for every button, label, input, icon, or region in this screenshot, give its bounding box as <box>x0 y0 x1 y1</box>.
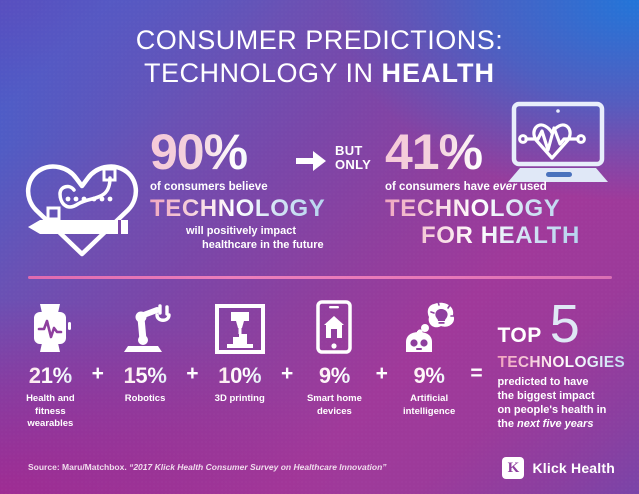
stat-right-subline-after: used <box>517 181 547 193</box>
top5-desc-line-4-prefix: the <box>497 418 517 430</box>
top5-desc-line-4-emphasis: next five years <box>517 418 593 430</box>
top5-number: 5 <box>550 302 580 346</box>
heart-pen-icon <box>18 158 146 265</box>
top5-summary-block: TOP 5 TECHNOLOGIES predicted to have the… <box>497 296 625 431</box>
source-citation: Source: Maru/Matchbox. “2017 Klick Healt… <box>28 462 387 472</box>
stat-right-subline-emphasis: ever <box>493 181 517 193</box>
tech-item-robotics: 15% Robotics <box>109 296 182 406</box>
plus-symbol-1: + <box>87 296 109 386</box>
tech-percent-3d-printing: 10% <box>203 363 276 389</box>
top5-desc-line-4: the next five years <box>497 417 625 431</box>
tech-label-artificial-intelligence: Artificial intelligence <box>393 393 466 418</box>
stat-left-keyword: TECHNOLOGY <box>150 195 325 222</box>
tech-percent-artificial-intelligence: 9% <box>393 363 466 389</box>
title-block: CONSUMER PREDICTIONS: TECHNOLOGY IN HEAL… <box>0 24 639 90</box>
plus-symbol-2: + <box>181 296 203 386</box>
section-divider <box>28 276 612 279</box>
footer: Source: Maru/Matchbox. “2017 Klick Healt… <box>0 448 639 494</box>
infographic-canvas: CONSUMER PREDICTIONS: TECHNOLOGY IN HEAL… <box>0 0 639 494</box>
stat-right-keyword-line-1: TECHNOLOGY <box>385 195 580 222</box>
top5-headline: TOP 5 <box>497 302 625 348</box>
stat-right-block: 41% of consumers have ever used TECHNOLO… <box>385 126 580 249</box>
top5-description: predicted to have the biggest impact on … <box>497 375 625 431</box>
top5-word: TOP <box>497 324 541 348</box>
klick-logo-text: Klick Health <box>532 460 615 476</box>
but-only-line-2: ONLY <box>335 158 371 172</box>
tech-item-smart-home: 9% Smart home devices <box>298 296 371 418</box>
stat-right-keyword-line-2: FOR HEALTH <box>385 222 580 249</box>
page-title-line-2: TECHNOLOGY IN HEALTH <box>0 57 639 90</box>
klick-health-logo: K Klick Health <box>502 457 615 479</box>
tech-percent-smart-home: 9% <box>298 363 371 389</box>
tech-percent-robotics: 15% <box>109 363 182 389</box>
tech-label-robotics: Robotics <box>109 393 182 406</box>
stat-left-tail-line-1: will positively impact <box>186 224 324 238</box>
stat-row: 90% of consumers believe TECHNOLOGY will… <box>0 96 639 271</box>
tech-item-wearables: 21% Health and fitness wearables <box>14 296 87 431</box>
tech-item-3d-printing: 10% 3D printing <box>203 296 276 406</box>
plus-symbol-3: + <box>276 296 298 386</box>
but-only-line-1: BUT <box>335 144 371 158</box>
page-title-line-2-bold: HEALTH <box>382 58 496 88</box>
robot-arm-icon <box>109 296 182 354</box>
stat-left-subline: of consumers believe <box>150 180 325 195</box>
page-title-line-2-prefix: TECHNOLOGY IN <box>144 58 382 88</box>
source-prefix: Source: Maru/Matchbox. <box>28 462 129 472</box>
stat-left-tail-line-2: healthcare in the future <box>186 238 324 252</box>
technology-breakdown-row: 21% Health and fitness wearables + 15% R… <box>14 296 625 436</box>
top5-desc-line-3: on people's health in <box>497 403 625 417</box>
stat-left-tail: will positively impact healthcare in the… <box>186 224 324 252</box>
tech-label-smart-home: Smart home devices <box>298 393 371 418</box>
stat-right-subline: of consumers have ever used <box>385 180 580 195</box>
tech-label-3d-printing: 3D printing <box>203 393 276 406</box>
top5-technologies-word: TECHNOLOGIES <box>497 354 625 372</box>
top5-desc-line-2: the biggest impact <box>497 389 625 403</box>
plus-symbol-4: + <box>371 296 393 386</box>
tech-percent-wearables: 21% <box>14 363 87 389</box>
tech-item-artificial-intelligence: 9% Artificial intelligence <box>393 296 466 418</box>
3d-printer-icon <box>203 296 276 354</box>
but-only-label: BUT ONLY <box>335 144 371 172</box>
top5-desc-line-1: predicted to have <box>497 375 625 389</box>
klick-logo-mark-icon: K <box>502 457 524 479</box>
tech-label-wearables: Health and fitness wearables <box>14 393 87 431</box>
source-title: “2017 Klick Health Consumer Survey on He… <box>129 462 386 472</box>
page-title-line-1: CONSUMER PREDICTIONS: <box>0 24 639 57</box>
klick-logo-letter: K <box>508 461 520 476</box>
ai-robot-icon <box>393 296 466 354</box>
arrow-right-icon <box>296 150 326 177</box>
stat-right-subline-before: of consumers have <box>385 181 493 193</box>
stat-right-percent: 41% <box>385 126 580 178</box>
smartphone-home-icon <box>298 296 371 354</box>
equals-symbol: = <box>465 296 487 386</box>
smartwatch-icon <box>14 296 87 354</box>
